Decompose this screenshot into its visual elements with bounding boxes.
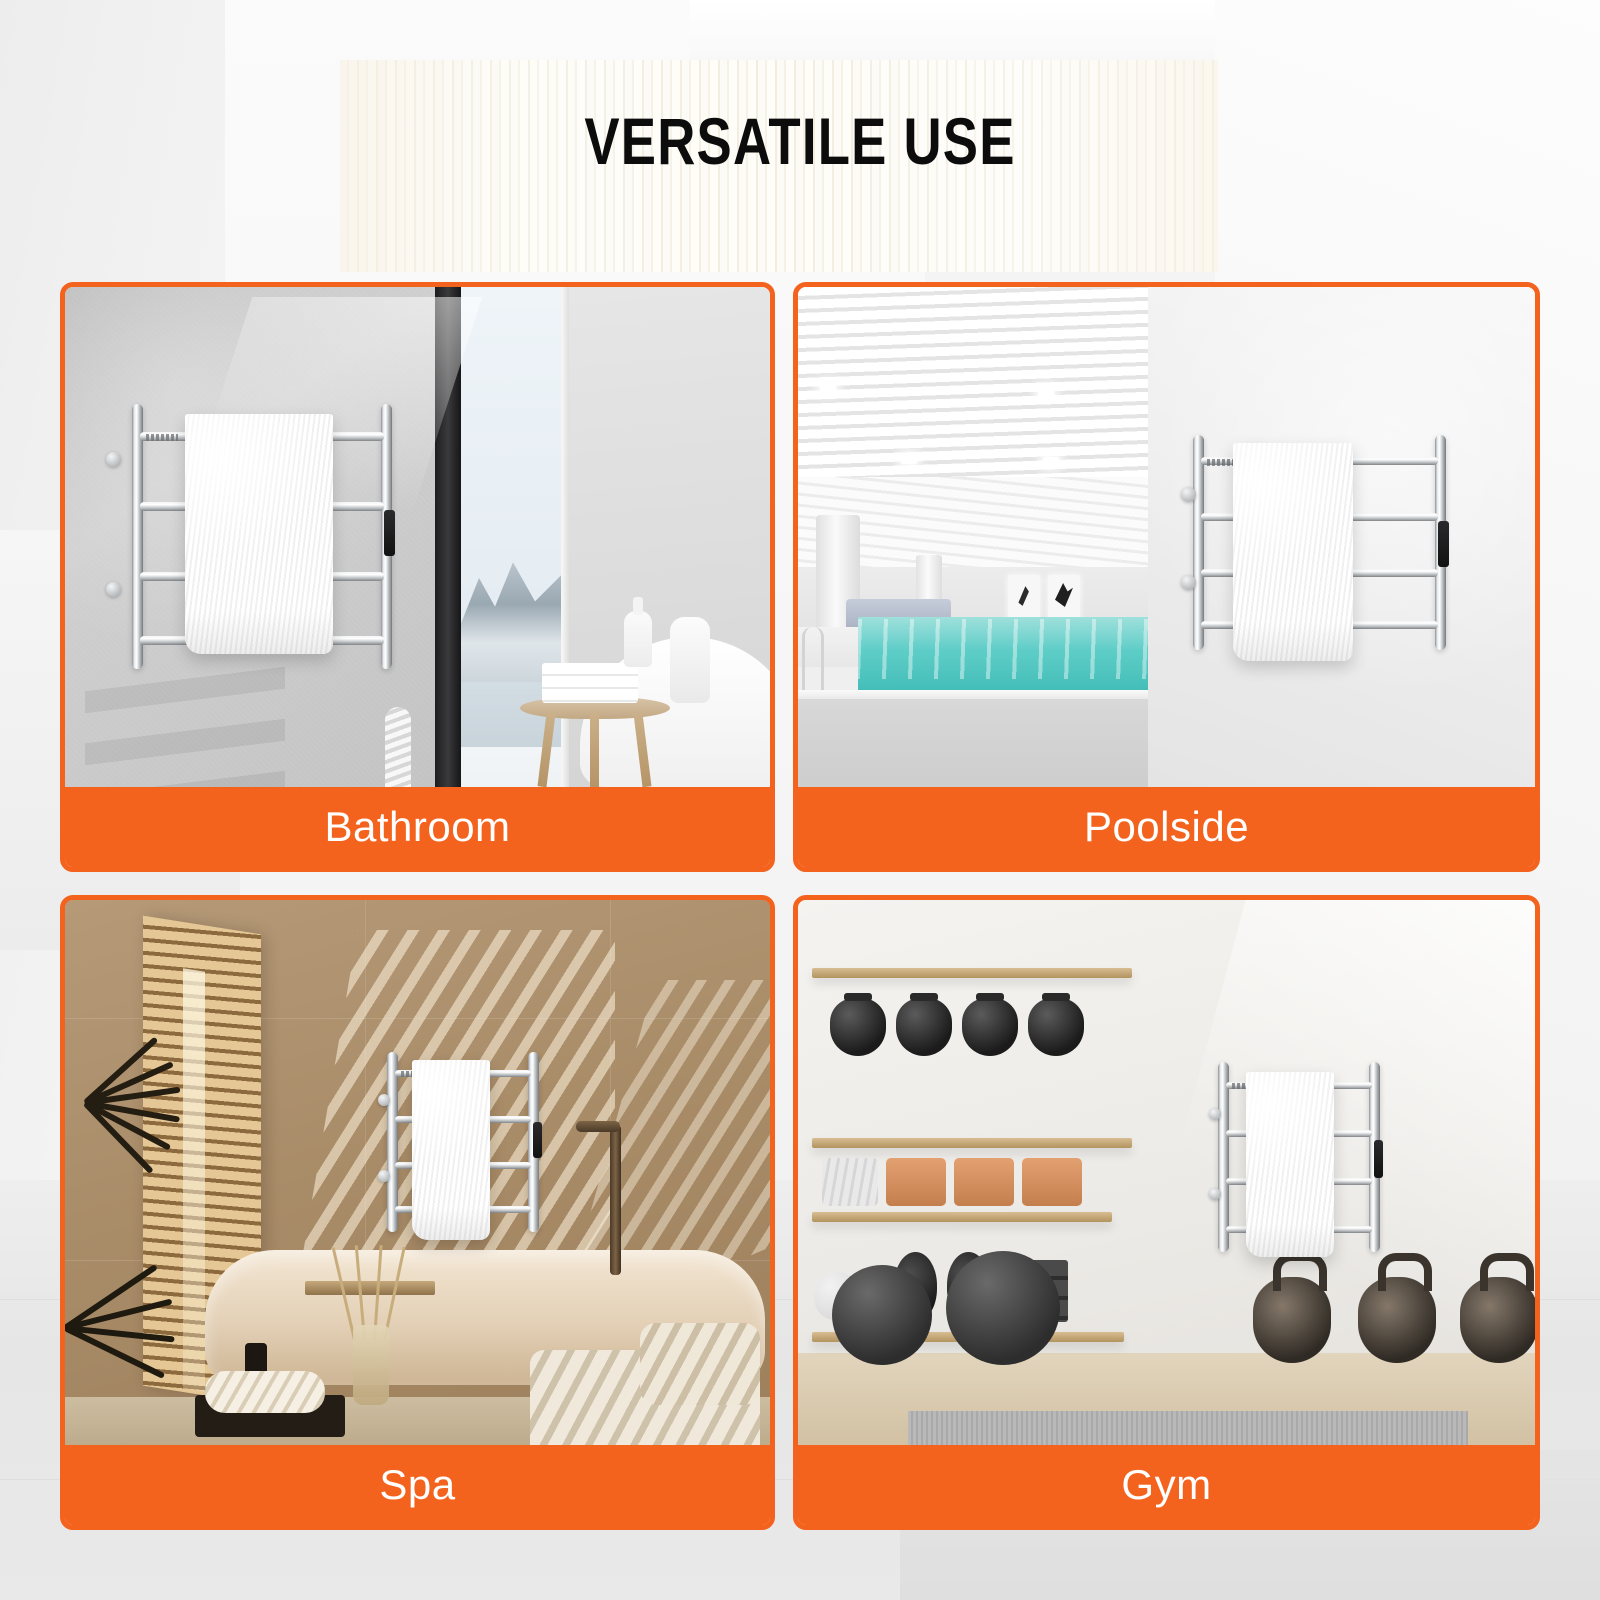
card-label-text: Bathroom <box>324 803 510 851</box>
towel-warmer-gym <box>1218 1062 1380 1252</box>
card-label-text: Spa <box>379 1461 455 1509</box>
spa-pillow <box>640 1323 760 1405</box>
bathroom-coiled-cord <box>385 707 411 787</box>
ceiling-light-icon <box>820 383 836 392</box>
warmer-post-left <box>1218 1062 1229 1252</box>
gym-shelf <box>812 1138 1132 1148</box>
use-case-card-bathroom[interactable]: Bathroom <box>60 282 775 872</box>
bathroom-bottle <box>670 617 710 703</box>
gym-tan-cushion <box>1022 1158 1082 1206</box>
warmer-post-left <box>1193 435 1204 650</box>
spa-palm-plant <box>65 1040 175 1220</box>
gym-floor-mat <box>908 1411 1468 1445</box>
warmer-control-switch[interactable] <box>1374 1140 1383 1178</box>
spa-rolled-towel <box>205 1371 325 1413</box>
kettlebell-icon <box>962 998 1018 1056</box>
towel-warmer-spa <box>387 1052 539 1232</box>
gym-exercise-ball <box>832 1265 932 1365</box>
warmer-control-switch[interactable] <box>533 1122 542 1158</box>
gym-cushion-row <box>822 1158 1122 1208</box>
bathroom-wall-shadow <box>85 655 285 787</box>
warmer-post-left <box>387 1052 398 1232</box>
draped-towel <box>1233 443 1353 661</box>
spa-blind-light <box>183 968 205 1391</box>
ceiling-light-icon <box>1038 387 1054 396</box>
gym-tan-cushion <box>886 1158 946 1206</box>
ceiling-light-icon <box>901 455 917 464</box>
wall-bracket <box>378 1170 390 1182</box>
stool-leg <box>538 713 556 787</box>
draped-towel <box>1246 1072 1334 1257</box>
kettlebell-icon <box>1028 998 1084 1056</box>
page-title: VERSATILE USE <box>160 103 1440 179</box>
wall-bracket <box>1209 1108 1221 1120</box>
brand-logo <box>146 434 178 441</box>
wall-bracket <box>1181 487 1196 502</box>
gym-floor-kettlebell <box>1358 1277 1436 1363</box>
card-label-spa: Spa <box>65 1445 770 1525</box>
card-label-text: Poolside <box>1084 803 1249 851</box>
wall-artwork <box>1048 575 1080 619</box>
use-case-card-poolside[interactable]: Poolside <box>793 282 1540 872</box>
spa-diffuser-bottle <box>353 1325 389 1405</box>
warmer-post-left <box>132 404 143 669</box>
gym-tan-cushion <box>954 1158 1014 1206</box>
towel-warmer-bathroom <box>132 404 392 669</box>
pool-ladder <box>802 627 824 697</box>
wall-bracket <box>1209 1188 1221 1200</box>
spa-palm-plant <box>65 1255 175 1415</box>
card-label-bathroom: Bathroom <box>65 787 770 867</box>
gym-shelf <box>812 1212 1112 1222</box>
use-case-card-gym[interactable]: Gym <box>793 895 1540 1530</box>
poolside-scene-image <box>798 287 1535 787</box>
wall-bracket <box>106 582 121 597</box>
bathroom-scene-image <box>65 287 770 787</box>
gym-floor-kettlebell <box>1460 1277 1535 1363</box>
card-label-text: Gym <box>1121 1461 1211 1509</box>
spa-scene-image <box>65 900 770 1445</box>
wall-bracket <box>1181 575 1196 590</box>
gym-kettlebell-row <box>830 998 1110 1056</box>
kettlebell-icon <box>830 998 886 1056</box>
bathroom-vase <box>624 611 652 667</box>
stool-leg <box>634 713 652 787</box>
gym-scene-image <box>798 900 1535 1445</box>
gym-floor-kettlebell <box>1253 1277 1331 1363</box>
towel-warmer-poolside <box>1193 435 1446 650</box>
gym-gray-cushion <box>822 1158 878 1206</box>
wall-bracket <box>378 1094 390 1106</box>
wall-bracket <box>106 452 121 467</box>
wall-artwork <box>1008 575 1040 619</box>
card-label-gym: Gym <box>798 1445 1535 1525</box>
warmer-control-switch[interactable] <box>384 510 395 556</box>
ceiling-light-icon <box>1043 457 1059 466</box>
card-label-poolside: Poolside <box>798 787 1535 867</box>
pool-foreground-wall <box>798 699 1148 787</box>
use-case-card-spa[interactable]: Spa <box>60 895 775 1530</box>
draped-towel <box>412 1060 490 1240</box>
bathroom-folded-towels <box>542 663 638 703</box>
gym-shelf <box>812 968 1132 978</box>
bathroom-wooden-stool <box>520 697 670 787</box>
draped-towel <box>185 414 333 654</box>
pool-coping <box>798 690 1148 699</box>
stool-leg <box>590 713 599 787</box>
kettlebell-icon <box>896 998 952 1056</box>
pool-water-reflection <box>858 619 1148 679</box>
gym-exercise-ball <box>946 1251 1060 1365</box>
spa-floor-faucet <box>610 1125 621 1275</box>
warmer-control-switch[interactable] <box>1438 521 1449 567</box>
use-case-grid: Bathroom <box>0 0 1600 1600</box>
